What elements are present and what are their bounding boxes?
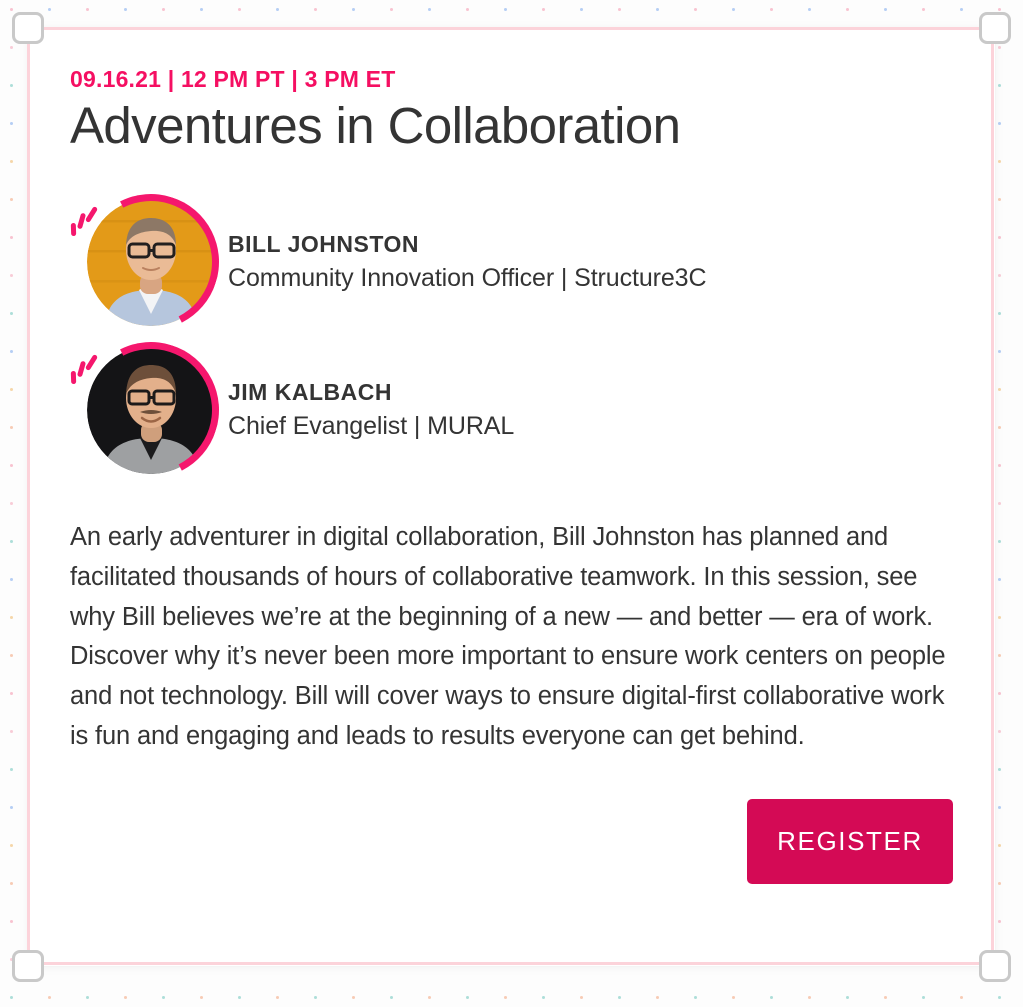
resize-handle-top-left[interactable] (12, 12, 44, 44)
register-button[interactable]: REGISTER (747, 799, 953, 884)
cta-row: REGISTER (70, 799, 953, 884)
session-description: An early adventurer in digital collabora… (70, 518, 953, 757)
speaker-role: Chief Evangelist | MURAL (228, 412, 514, 441)
selected-card-wrapper[interactable]: 09.16.21 | 12 PM PT | 3 PM ET Adventures… (28, 28, 995, 966)
resize-handle-top-right[interactable] (979, 12, 1011, 44)
resize-handle-bottom-left[interactable] (12, 950, 44, 982)
speaker-item-bill-johnston: BILL JOHNSTON Community Innovation Offic… (70, 188, 953, 336)
speaker-name: BILL JOHNSTON (228, 231, 706, 258)
speaker-list: BILL JOHNSTON Community Innovation Offic… (70, 188, 953, 484)
page-title: Adventures in Collaboration (70, 97, 953, 154)
card-content: 09.16.21 | 12 PM PT | 3 PM ET Adventures… (70, 66, 953, 884)
avatar-block (70, 192, 220, 332)
avatar-block (70, 340, 220, 480)
speaker-role: Community Innovation Officer | Structure… (228, 264, 706, 293)
sparkle-icon (70, 354, 102, 388)
webinar-card[interactable]: 09.16.21 | 12 PM PT | 3 PM ET Adventures… (28, 28, 995, 966)
speaker-text: BILL JOHNSTON Community Innovation Offic… (220, 231, 706, 293)
sparkle-icon (70, 206, 102, 240)
speaker-text: JIM KALBACH Chief Evangelist | MURAL (220, 379, 514, 441)
event-datetime: 09.16.21 | 12 PM PT | 3 PM ET (70, 66, 953, 93)
resize-handle-bottom-right[interactable] (979, 950, 1011, 982)
speaker-name: JIM KALBACH (228, 379, 514, 406)
speaker-item-jim-kalbach: JIM KALBACH Chief Evangelist | MURAL (70, 336, 953, 484)
board-canvas[interactable]: 09.16.21 | 12 PM PT | 3 PM ET Adventures… (0, 0, 1023, 1007)
